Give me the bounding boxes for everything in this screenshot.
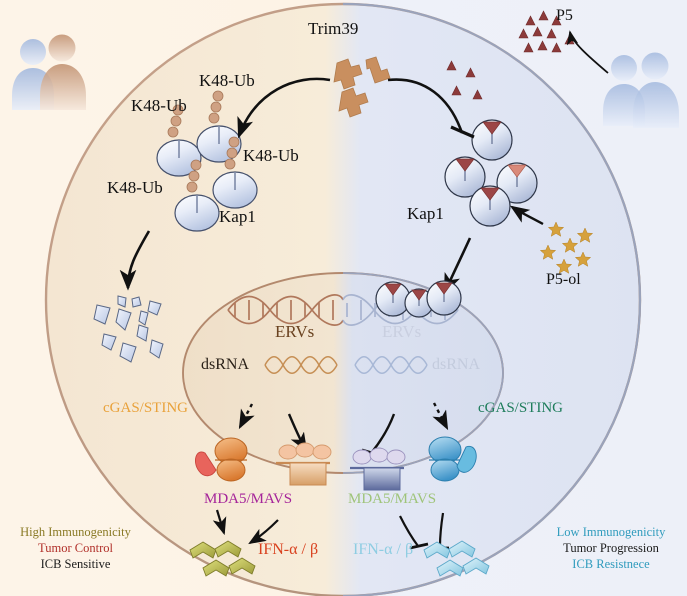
label-mda5-mavs-right: MDA5/MAVS: [348, 492, 436, 507]
outcome-left-3: ICB Sensitive: [8, 556, 143, 572]
label-trim39: Trim39: [308, 20, 358, 37]
kap1-ellipse-p5-bound: [472, 120, 512, 160]
kap1-ellipse: [175, 195, 219, 231]
label-ifn-right: IFN-α / β: [353, 542, 413, 558]
label-dsrna-right: dsRNA: [432, 357, 480, 373]
outcome-left-2: Tumor Control: [8, 540, 143, 556]
label-p5: P5: [556, 8, 573, 24]
arrow-human-to-p5: [570, 32, 608, 73]
label-cgas-sting-right: cGAS/STING: [478, 401, 563, 416]
label-k48-ub-4: K48-Ub: [107, 179, 163, 196]
label-ervs-left: ERVs: [275, 323, 314, 340]
outcome-right-3: ICB Resistnece: [540, 556, 682, 572]
label-ervs-right: ERVs: [382, 323, 421, 340]
kap1-ellipse: [213, 172, 257, 208]
kap1-ellipse-p5-bound: [376, 282, 410, 316]
kap1-ellipse: [157, 140, 201, 176]
label-p5ol: P5-ol: [546, 272, 581, 288]
outcome-right-1: Low Immunogenicity: [540, 524, 682, 540]
label-ifn-left: IFN-α / β: [258, 542, 318, 558]
kap1-ellipse-p5-bound: [427, 281, 461, 315]
label-kap1-right: Kap1: [407, 205, 444, 222]
label-kap1-left: Kap1: [219, 208, 256, 225]
figure-canvas: Trim39 K48-Ub K48-Ub K48-Ub K48-Ub Kap1 …: [0, 0, 687, 596]
outcome-left-1: High Immunogenicity: [8, 524, 143, 540]
person-silhouette-brown: [40, 35, 86, 111]
pathway-graphics: [0, 0, 687, 596]
label-k48-ub-1: K48-Ub: [199, 72, 255, 89]
outcome-block-left: High Immunogenicity Tumor Control ICB Se…: [8, 524, 143, 572]
outcome-right-2: Tumor Progression: [540, 540, 682, 556]
label-dsrna-left: dsRNA: [201, 357, 249, 373]
label-mda5-mavs-left: MDA5/MAVS: [204, 492, 292, 507]
label-k48-ub-3: K48-Ub: [243, 147, 299, 164]
kap1-ellipse-p5-bound: [470, 186, 510, 226]
label-k48-ub-2: K48-Ub: [131, 97, 187, 114]
label-cgas-sting-left: cGAS/STING: [103, 401, 188, 416]
outcome-block-right: Low Immunogenicity Tumor Progression ICB…: [540, 524, 682, 572]
person-silhouette-blue: [633, 53, 679, 129]
